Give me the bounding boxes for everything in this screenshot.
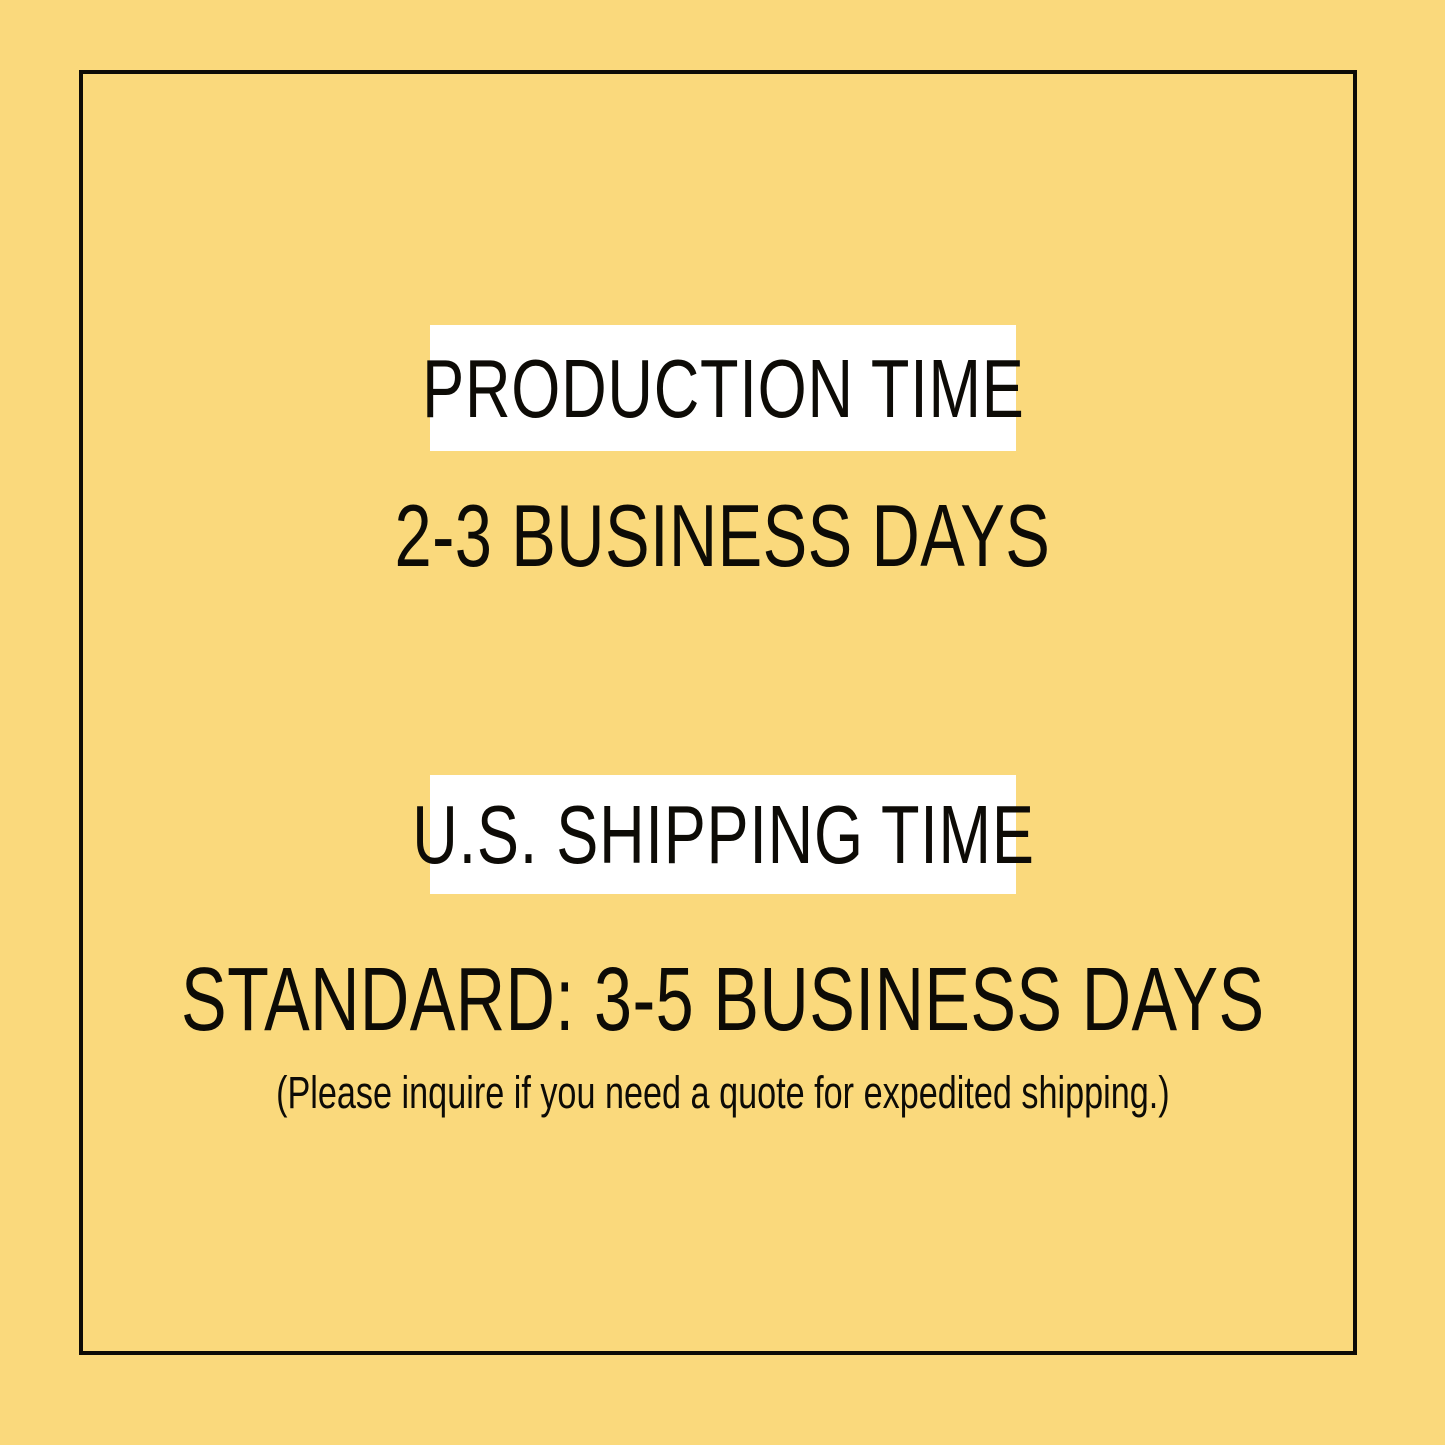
production-time-label: PRODUCTION TIME [422,347,1025,430]
production-time-value-row: 2-3 BUSINESS DAYS [0,488,1445,584]
decorative-border-frame [79,70,1357,1355]
shipping-time-value-row: STANDARD: 3-5 BUSINESS DAYS [0,952,1445,1048]
shipping-time-label-band: U.S. SHIPPING TIME [430,775,1016,894]
expedited-shipping-note-row: (Please inquire if you need a quote for … [0,1066,1445,1118]
production-time-value: 2-3 BUSINESS DAYS [395,492,1051,580]
shipping-time-label: U.S. SHIPPING TIME [412,793,1034,876]
shipping-info-graphic: PRODUCTION TIME 2-3 BUSINESS DAYS U.S. S… [0,0,1445,1445]
production-time-label-band: PRODUCTION TIME [430,325,1016,451]
shipping-time-value: STANDARD: 3-5 BUSINESS DAYS [181,955,1264,1045]
expedited-shipping-note: (Please inquire if you need a quote for … [276,1070,1170,1115]
